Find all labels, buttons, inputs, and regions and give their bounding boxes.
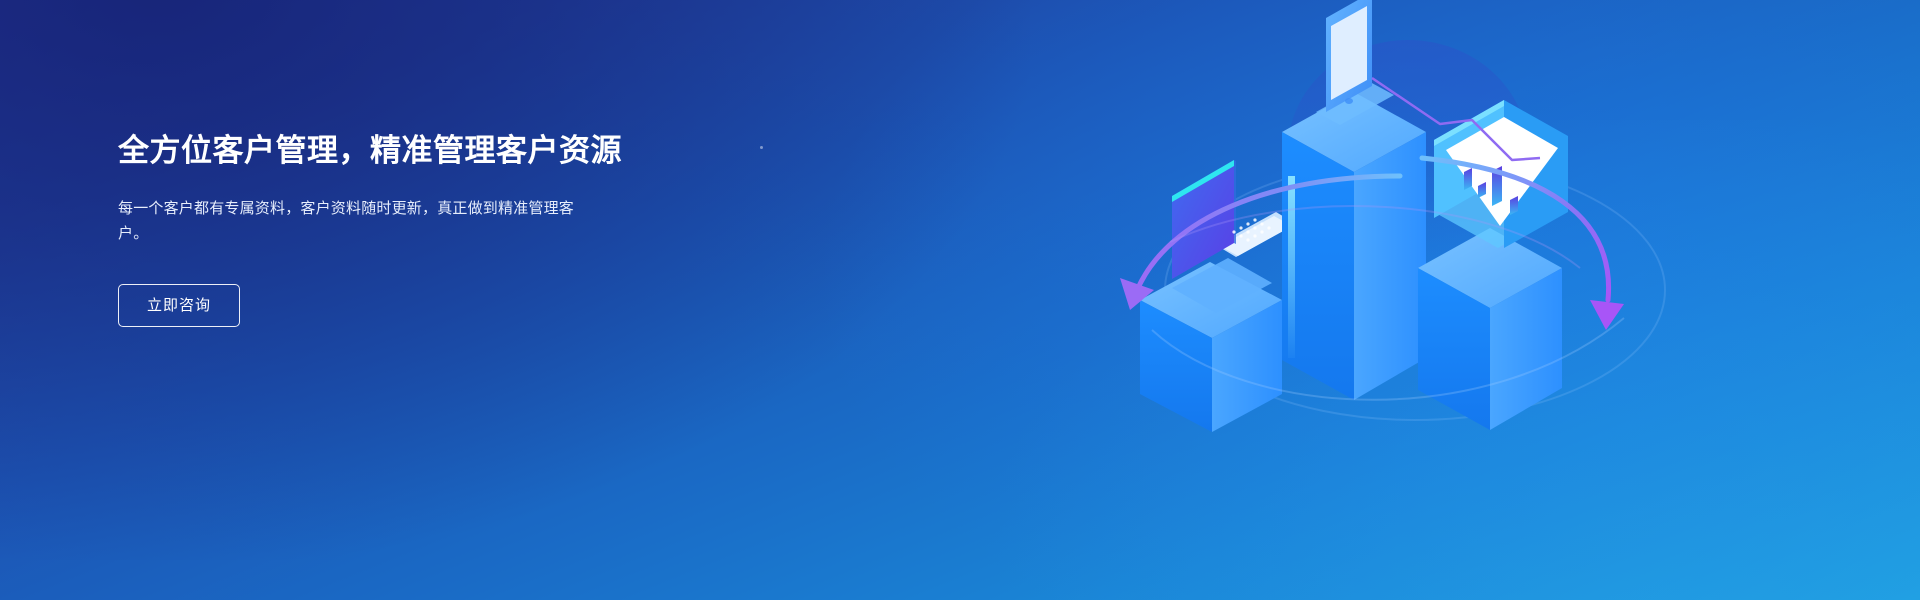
consult-now-button[interactable]: 立即咨询 [118,284,240,327]
arc-arrow-right-head [1590,300,1624,330]
laptop [1172,160,1296,313]
hero-copy: 全方位客户管理，精准管理客户资源 每一个客户都有专属资料，客户资料随时更新，真正… [118,132,738,327]
page-title: 全方位客户管理，精准管理客户资源 [118,132,738,171]
hero-subcopy: 每一个客户都有专属资料，客户资料随时更新，真正做到精准管理客户。 [118,197,604,247]
hero-banner: 全方位客户管理，精准管理客户资源 每一个客户都有专属资料，客户资料随时更新，真正… [0,0,1920,600]
illustration-isometric-data-pillars [1020,0,1920,600]
pillar-right [1418,228,1562,430]
pillar-center-tall [1282,92,1426,400]
pillar-glow-strip [1288,176,1295,358]
sparkle-dot-icon [760,146,763,149]
